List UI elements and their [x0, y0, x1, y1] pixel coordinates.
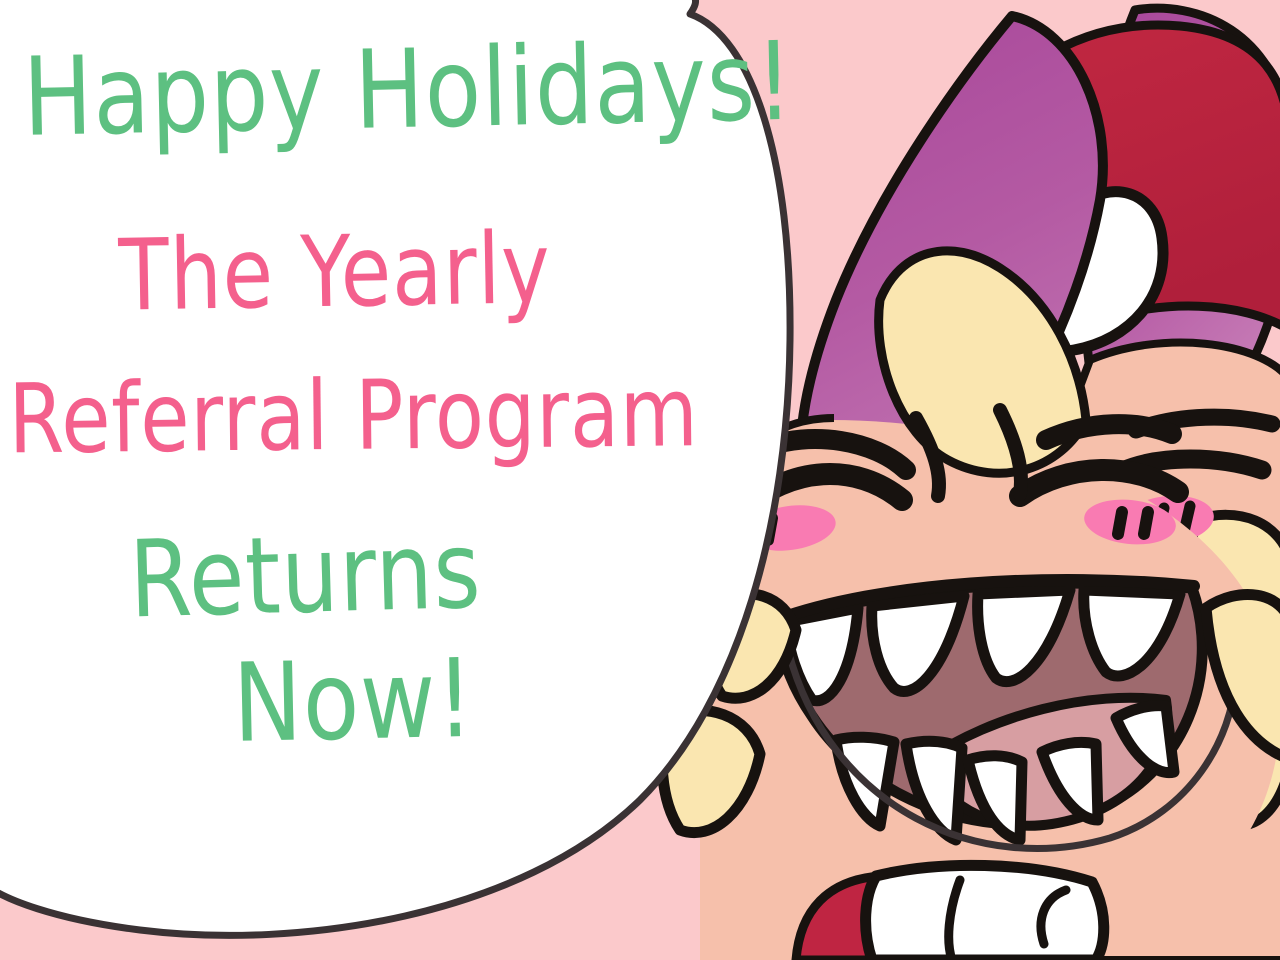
illustration-artwork — [0, 0, 1280, 960]
illustration-canvas: Happy Holidays! The Yearly Referral Prog… — [0, 0, 1280, 960]
santa-hat-brim-fur — [866, 865, 1104, 960]
front-character-blush-right-line-1 — [1118, 512, 1122, 534]
front-character-blush-right-line-2 — [1144, 512, 1148, 534]
